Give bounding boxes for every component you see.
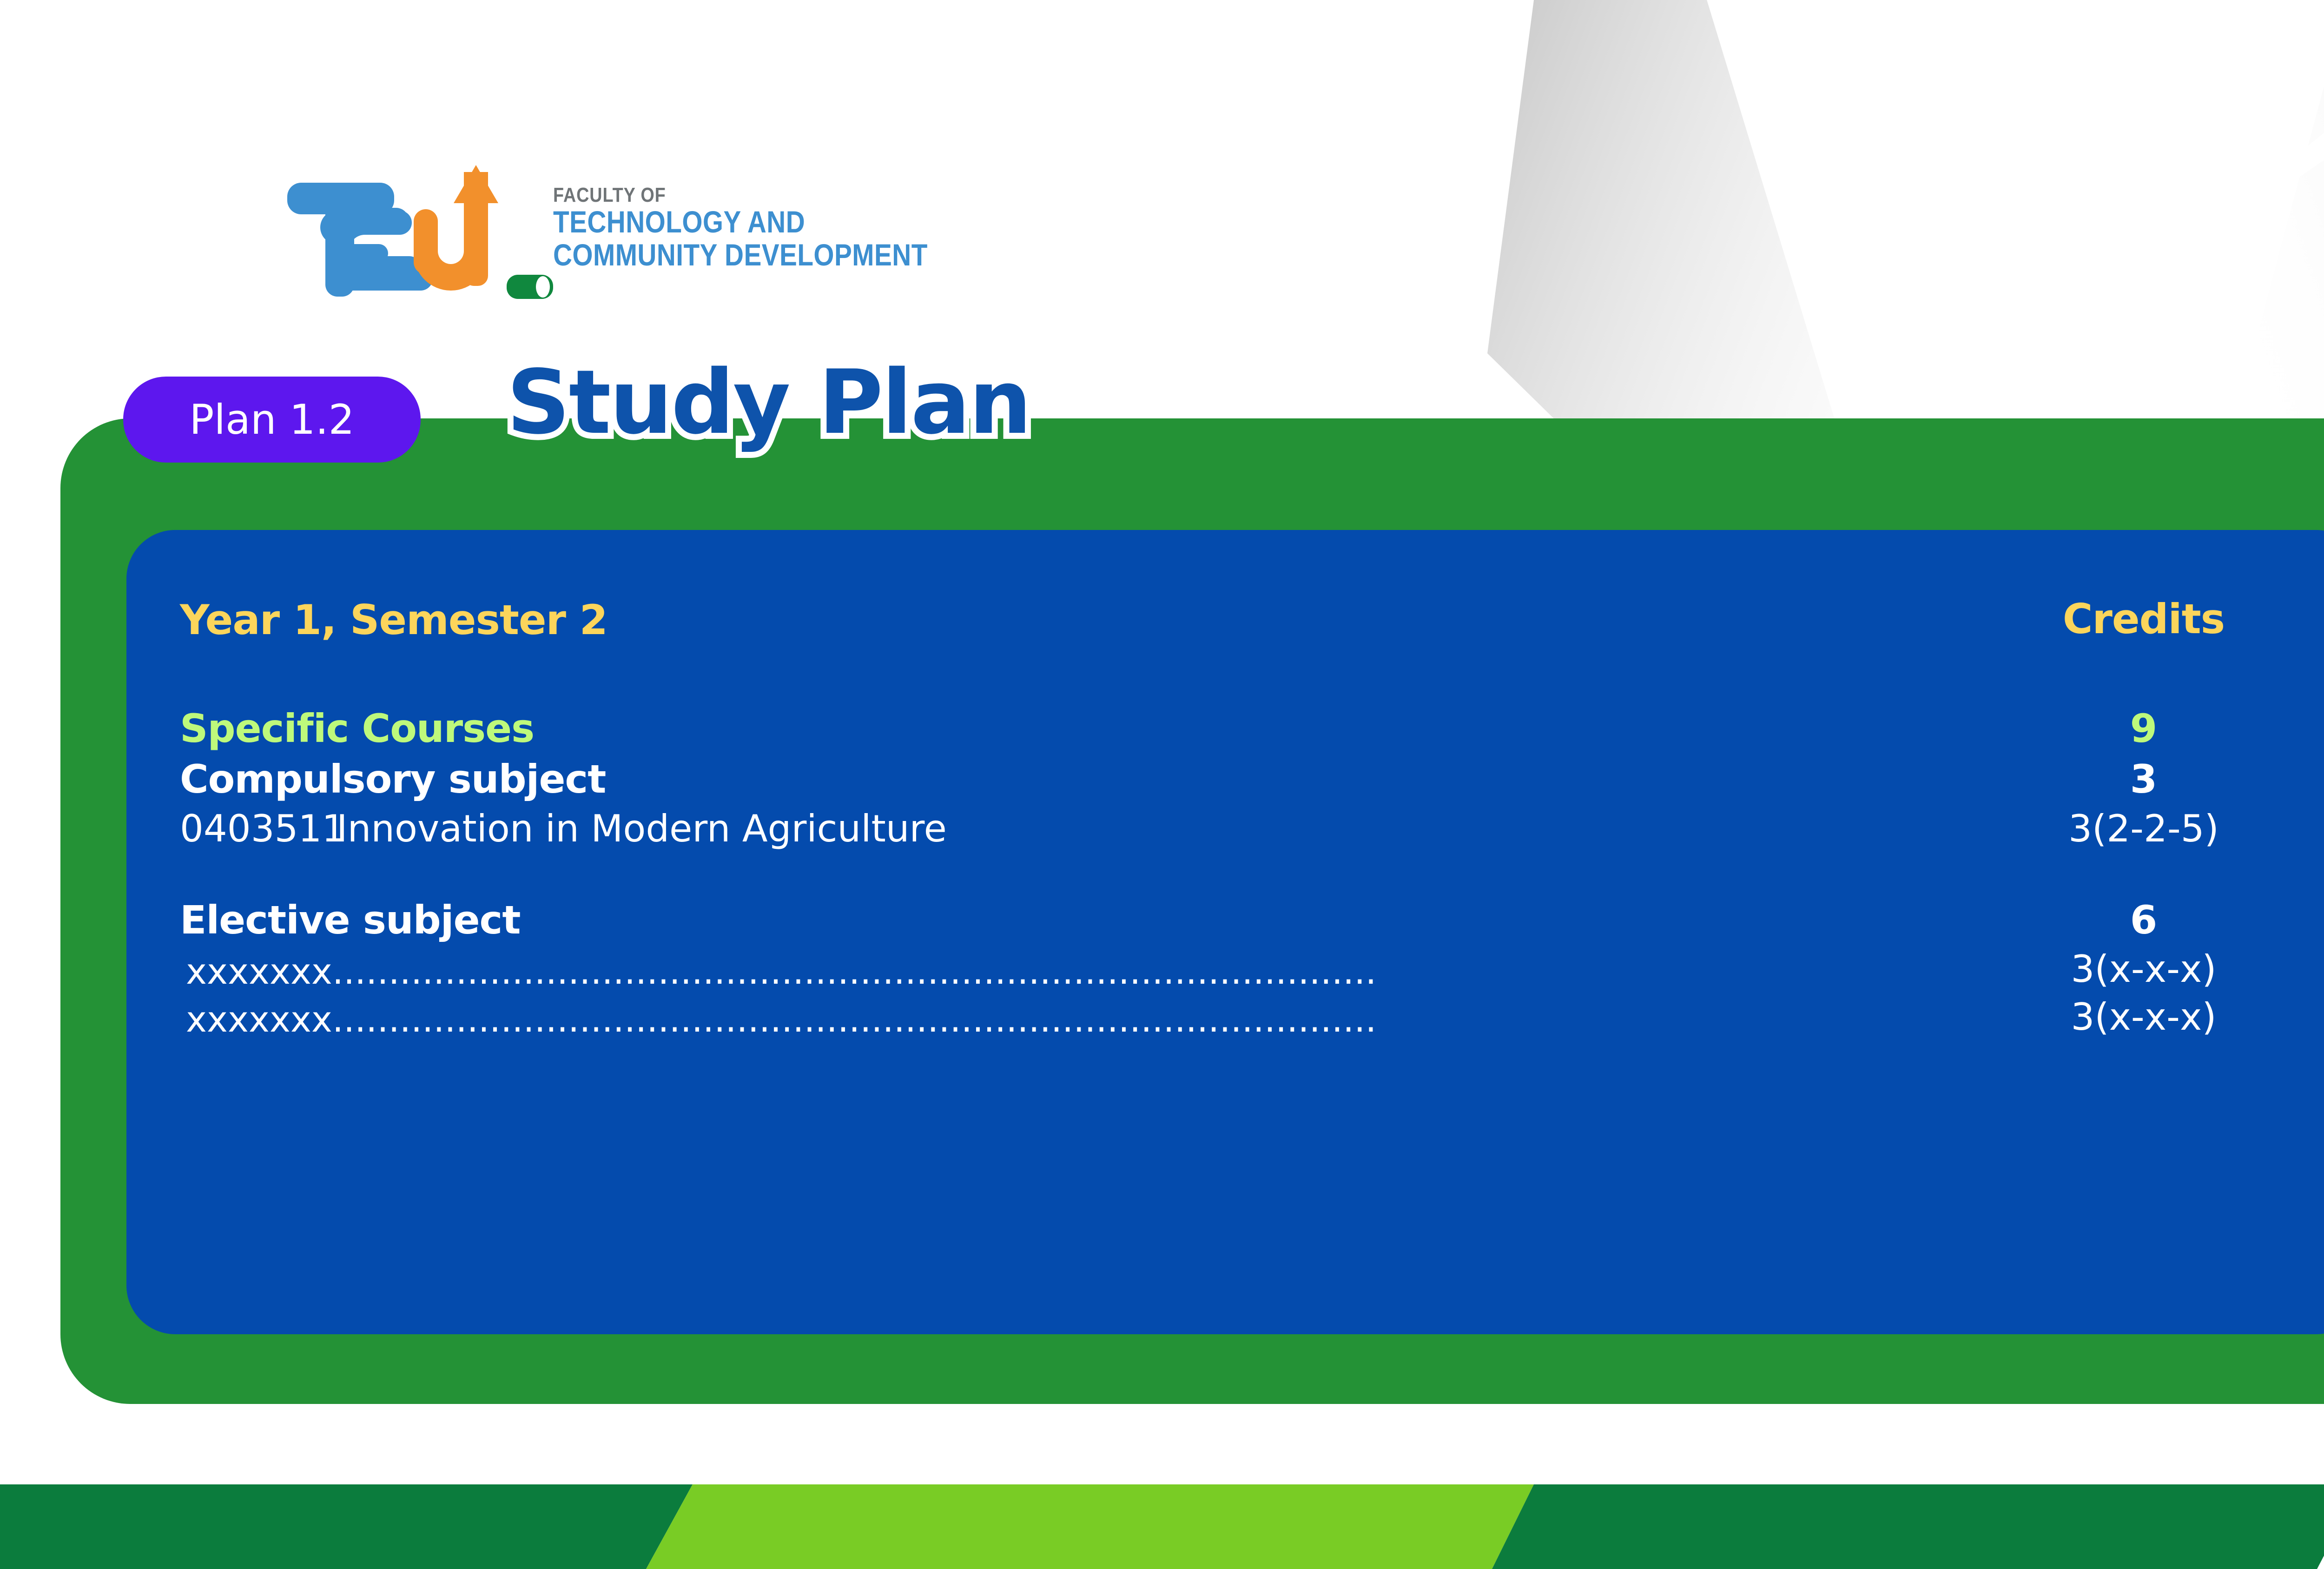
section-label-specific-courses: Specific Courses	[180, 706, 534, 751]
section-credits-compulsory-subject: 3	[1981, 756, 2306, 802]
table-header-left: Year 1, Semester 2	[180, 596, 607, 644]
white-chevron-group	[1701, 0, 2324, 470]
logo-wordmark: FACULTY OF TECHNOLOGY AND COMMUNITY DEVE…	[553, 185, 1018, 272]
section-label-compulsory-subject: Compulsory subject	[180, 756, 606, 802]
logo-faculty-line2: COMMUNITY DEVELOPMENT	[553, 238, 953, 271]
elective-course-credits-1: 3(x-x-x)	[1981, 947, 2306, 991]
plan-badge-label: Plan 1.2	[189, 396, 354, 444]
page-title: Study Plan	[507, 351, 1030, 454]
elective-course-title-1: xxxxxxx.................................…	[186, 951, 1859, 992]
slide-canvas: FACULTY OF TECHNOLOGY AND COMMUNITY DEVE…	[0, 0, 2324, 1569]
section-label-elective-subject: Elective subject	[180, 897, 521, 943]
section-credits-specific-courses: 9	[1981, 706, 2306, 751]
table-header-right: Credits	[1981, 595, 2306, 643]
elective-course-title-2: xxxxxxx.................................…	[186, 999, 1859, 1040]
course-title-0403511: Innovation in Modern Agriculture	[337, 807, 947, 850]
plan-badge[interactable]: Plan 1.2	[123, 377, 421, 463]
logo-faculty-eyebrow: FACULTY OF	[553, 185, 953, 205]
course-credits-0403511: 3(2-2-5)	[1981, 807, 2306, 850]
section-credits-elective-subject: 6	[1981, 897, 2306, 943]
study-plan-table: Year 1, Semester 2 Credits Specific Cour…	[126, 530, 2324, 1334]
logo-pill-icon	[507, 275, 553, 299]
elective-course-credits-2: 3(x-x-x)	[1981, 995, 2306, 1039]
course-code-0403511: 0403511	[180, 807, 345, 850]
logo-faculty-line1: TECHNOLOGY AND	[553, 205, 953, 238]
bottom-band	[0, 1484, 2324, 1569]
